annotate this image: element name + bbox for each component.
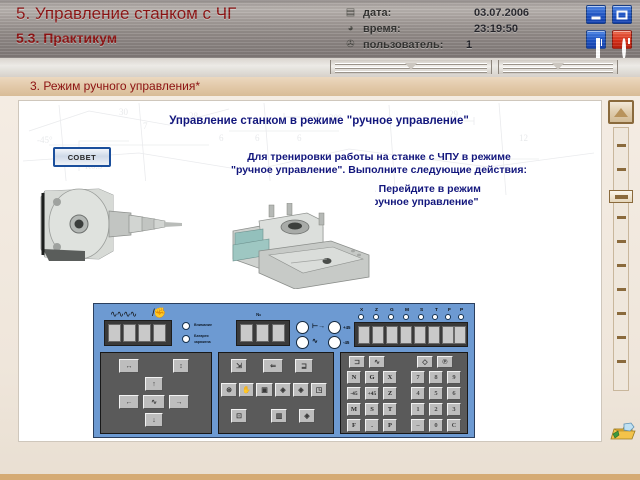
mode-key-4[interactable]: ℗	[437, 356, 453, 368]
axis-label-g: G	[390, 308, 394, 313]
func-key-5[interactable]: ✋	[239, 383, 254, 397]
display-cell	[138, 324, 151, 342]
jog-button-plus[interactable]	[328, 321, 341, 334]
step-line-1: 1. Перейдите в режим	[367, 183, 587, 196]
wave-arrow-icon: ∿	[312, 337, 318, 345]
maximize-button[interactable]	[612, 5, 632, 24]
info-row-time: ◕ время: 23:19:50	[344, 21, 564, 37]
func-key-9[interactable]: ◳	[311, 383, 327, 397]
maximize-icon	[617, 10, 628, 19]
jog-up-key[interactable]: ↑	[145, 377, 163, 391]
func-key-3[interactable]: ⊒	[295, 359, 313, 373]
func-key-10[interactable]: ⊡	[231, 409, 247, 423]
jog-button-b[interactable]	[296, 336, 309, 349]
split-view-icon	[596, 38, 600, 59]
jog-plus-label: +45	[343, 325, 350, 330]
time-value: 23:19:50	[474, 21, 518, 37]
time-label: время:	[363, 21, 401, 37]
key-x[interactable]: X	[383, 371, 397, 384]
svg-text:6: 6	[297, 133, 302, 143]
display-cell	[454, 326, 466, 344]
axis-label-z: Z	[375, 308, 378, 313]
key-t[interactable]: T	[383, 403, 397, 416]
hint-button[interactable]: СОВЕТ	[53, 147, 111, 167]
key-plus45[interactable]: +45	[365, 387, 379, 400]
display-cell	[358, 326, 370, 344]
title-bar: 5. Управление станком с ЧГ 5.3. Практику…	[0, 0, 640, 59]
ribbon-line	[335, 71, 487, 72]
step-instruction: 1. Перейдите в режим "ручное управление"	[367, 183, 587, 209]
status-info-panel: ▤ дата: 03.07.2006 ◕ время: 23:19:50 ✇ п…	[344, 5, 564, 53]
func-key-7[interactable]: ◈	[275, 383, 291, 397]
axis-lamp	[445, 314, 451, 320]
window-controls	[586, 5, 634, 51]
application-window: 5. Управление станком с ЧГ 5.3. Практику…	[0, 0, 640, 480]
info-row-user: ✇ пользователь: 1	[344, 37, 564, 53]
key-n[interactable]: N	[347, 371, 361, 384]
section-header-bar: 3. Режим ручного управления*	[0, 77, 640, 97]
svg-text:-45°: -45°	[37, 135, 53, 145]
toolbar-divider-strip	[0, 58, 640, 78]
axis-lamp	[388, 314, 394, 320]
key-s[interactable]: S	[365, 403, 379, 416]
axis-lamp	[358, 314, 364, 320]
minimize-icon	[592, 16, 601, 19]
key-f[interactable]: F	[347, 419, 361, 432]
key-4[interactable]: 4	[411, 387, 425, 400]
axis-label-m: M	[405, 308, 409, 313]
key-g[interactable]: G	[365, 371, 379, 384]
func-key-2[interactable]: ⇐	[263, 359, 283, 373]
scroll-thumb[interactable]	[609, 190, 633, 203]
display-cell	[414, 326, 426, 344]
wave-symbol-icon: ∿∿∿∿	[110, 309, 136, 320]
jog-down-key[interactable]: ↓	[145, 413, 163, 427]
jog-minus-label: -45	[343, 340, 349, 345]
axis-horizontal-key[interactable]: ↔	[119, 359, 139, 373]
func-key-8[interactable]: ◈	[293, 383, 309, 397]
jog-button-minus[interactable]	[328, 336, 341, 349]
jog-arrow-pad: ↔ ↕ ↑ ← ∿ → ↓	[100, 352, 212, 434]
task-line-2: "ручное управление". Выполните следующие…	[169, 164, 589, 177]
func-key-11[interactable]: ▥	[271, 409, 287, 423]
warning-lamp	[182, 322, 190, 330]
page-subtitle: 5.3. Практикум	[16, 30, 117, 46]
scroll-up-button[interactable]	[608, 100, 634, 124]
display-cell	[386, 326, 398, 344]
display-cell	[153, 324, 166, 342]
numeric-keypad-section: ⊐ ∿ ◇ ℗ N G X -45 +45 Z M S T F	[340, 352, 468, 434]
key-2[interactable]: 2	[429, 403, 443, 416]
hand-symbol-icon: /✊	[152, 308, 165, 319]
chevron-down-icon	[552, 63, 564, 70]
func-key-1[interactable]: ⇲	[231, 359, 247, 373]
axis-lamp	[432, 314, 438, 320]
function-key-pad: ⇲ ⇐ ⊒ ⊛ ✋ ▣ ◈ ◈ ◳ ⊡ ▥ ◈	[218, 352, 334, 434]
cnc-upper-row: ∿∿∿∿ /✊ Внимание Батарея заряжена	[100, 309, 468, 349]
open-folder-icon[interactable]	[610, 422, 636, 442]
key-minus[interactable]: –	[411, 419, 425, 432]
battery-lamp	[182, 335, 190, 343]
key-m[interactable]: M	[347, 403, 361, 416]
scroll-track[interactable]	[613, 127, 629, 391]
page-body: -45° 7 28 6 6 6 R0.5 30 30° 29 12 Управл…	[0, 96, 640, 480]
key-z[interactable]: Z	[383, 387, 397, 400]
clock-icon: ◕	[344, 22, 357, 35]
scroll-tick	[617, 240, 626, 243]
scroll-tick	[617, 360, 626, 363]
split-view-button[interactable]	[586, 30, 606, 49]
func-key-12[interactable]: ◈	[299, 409, 315, 423]
user-label: пользователь:	[363, 37, 443, 53]
bottom-accent-bar	[0, 474, 640, 480]
slide-canvas: -45° 7 28 6 6 6 R0.5 30 30° 29 12 Управл…	[18, 100, 602, 442]
battery-lamp-sublabel: заряжена	[194, 340, 211, 344]
svg-text:12: 12	[519, 133, 528, 143]
date-label: дата:	[363, 5, 391, 21]
key-5[interactable]: 5	[429, 387, 443, 400]
display-cell	[256, 324, 269, 342]
axis-lamp	[403, 314, 409, 320]
info-row-date: ▤ дата: 03.07.2006	[344, 5, 564, 21]
axis-label-t: T	[435, 308, 438, 313]
axis-label-p: P	[460, 308, 463, 313]
key-8[interactable]: 8	[429, 371, 443, 384]
status-display-left	[104, 320, 172, 346]
display-cell	[442, 326, 454, 344]
status-display-right	[354, 322, 468, 347]
scroll-tick	[617, 312, 626, 315]
axis-label-f: F	[448, 308, 451, 313]
user-icon: ✇	[344, 38, 357, 51]
key-dot[interactable]: .	[365, 419, 379, 432]
lathe-chuck-photo	[39, 185, 189, 265]
svg-text:6: 6	[255, 133, 260, 143]
task-description: Для тренировки работы на станке с ЧПУ в …	[169, 151, 589, 177]
scroll-tick	[617, 168, 626, 171]
calendar-icon: ▤	[344, 6, 357, 19]
axis-lamp	[373, 314, 379, 320]
user-value: 1	[466, 37, 472, 53]
task-line-1: Для тренировки работы на станке с ЧПУ в …	[169, 151, 589, 164]
warning-lamp-label: Внимание	[194, 323, 212, 327]
mode-key-3[interactable]: ◇	[417, 356, 433, 368]
display-number-label: №	[256, 312, 261, 317]
axis-lamp	[418, 314, 424, 320]
ribbon-line	[503, 71, 613, 72]
jog-right-key[interactable]: →	[169, 395, 189, 409]
power-icon	[622, 38, 626, 59]
key-9[interactable]: 9	[447, 371, 461, 384]
display-cell	[240, 324, 253, 342]
svg-text:6: 6	[219, 133, 224, 143]
display-cell	[108, 324, 121, 342]
scroll-tick	[617, 216, 626, 219]
key-3[interactable]: 3	[447, 403, 461, 416]
photo-band	[39, 181, 375, 303]
display-cell	[400, 326, 412, 344]
key-clear[interactable]: C	[447, 419, 461, 432]
cnc-lower-row: ↔ ↕ ↑ ← ∿ → ↓ ⇲ ⇐ ⊒ ⊛ ✋	[100, 352, 468, 434]
display-cell	[272, 324, 285, 342]
axis-label-s: S	[420, 308, 423, 313]
scroll-tick	[617, 144, 626, 147]
axis-lamp	[458, 314, 464, 320]
mode-key-1[interactable]: ⊐	[349, 356, 365, 368]
axis-vertical-key[interactable]: ↕	[173, 359, 189, 373]
jog-center-key[interactable]: ∿	[143, 395, 165, 409]
display-cell	[428, 326, 440, 344]
scroll-tick	[617, 336, 626, 339]
tool-post-photo	[203, 203, 375, 289]
scroll-tick	[617, 288, 626, 291]
chevron-down-icon	[405, 63, 417, 70]
vertical-scrollbar	[608, 100, 634, 418]
func-key-6[interactable]: ▣	[256, 383, 273, 397]
key-p[interactable]: P	[383, 419, 397, 432]
battery-lamp-label: Батарея	[194, 334, 209, 338]
arrow-up-icon	[614, 108, 628, 117]
display-cell	[123, 324, 136, 342]
jog-button-a[interactable]	[296, 321, 309, 334]
status-display-middle	[236, 320, 290, 346]
page-title: 5. Управление станком с ЧГ	[16, 4, 236, 24]
ribbon-control-left[interactable]	[330, 60, 492, 74]
step-line-2: "ручное управление"	[367, 196, 587, 209]
func-key-4[interactable]: ⊛	[221, 383, 237, 397]
section-title: 3. Режим ручного управления*	[30, 79, 200, 93]
date-value: 03.07.2006	[474, 5, 529, 21]
scroll-tick	[617, 264, 626, 267]
ribbon-control-right[interactable]	[498, 60, 618, 74]
key-7[interactable]: 7	[411, 371, 425, 384]
minimize-button[interactable]	[586, 5, 606, 24]
key-1[interactable]: 1	[411, 403, 425, 416]
axis-label-x: X	[360, 308, 363, 313]
step-arrow-icon: ⊢→	[312, 322, 325, 330]
slide-heading: Управление станком в режиме "ручное упра…	[69, 115, 569, 127]
jog-left-key[interactable]: ←	[119, 395, 139, 409]
key-0[interactable]: 0	[429, 419, 443, 432]
mode-key-2[interactable]: ∿	[369, 356, 385, 368]
cnc-control-panel: ∿∿∿∿ /✊ Внимание Батарея заряжена	[93, 303, 475, 438]
key-6[interactable]: 6	[447, 387, 461, 400]
power-button[interactable]	[612, 30, 632, 49]
key-minus45[interactable]: -45	[347, 387, 361, 400]
display-cell	[372, 326, 384, 344]
